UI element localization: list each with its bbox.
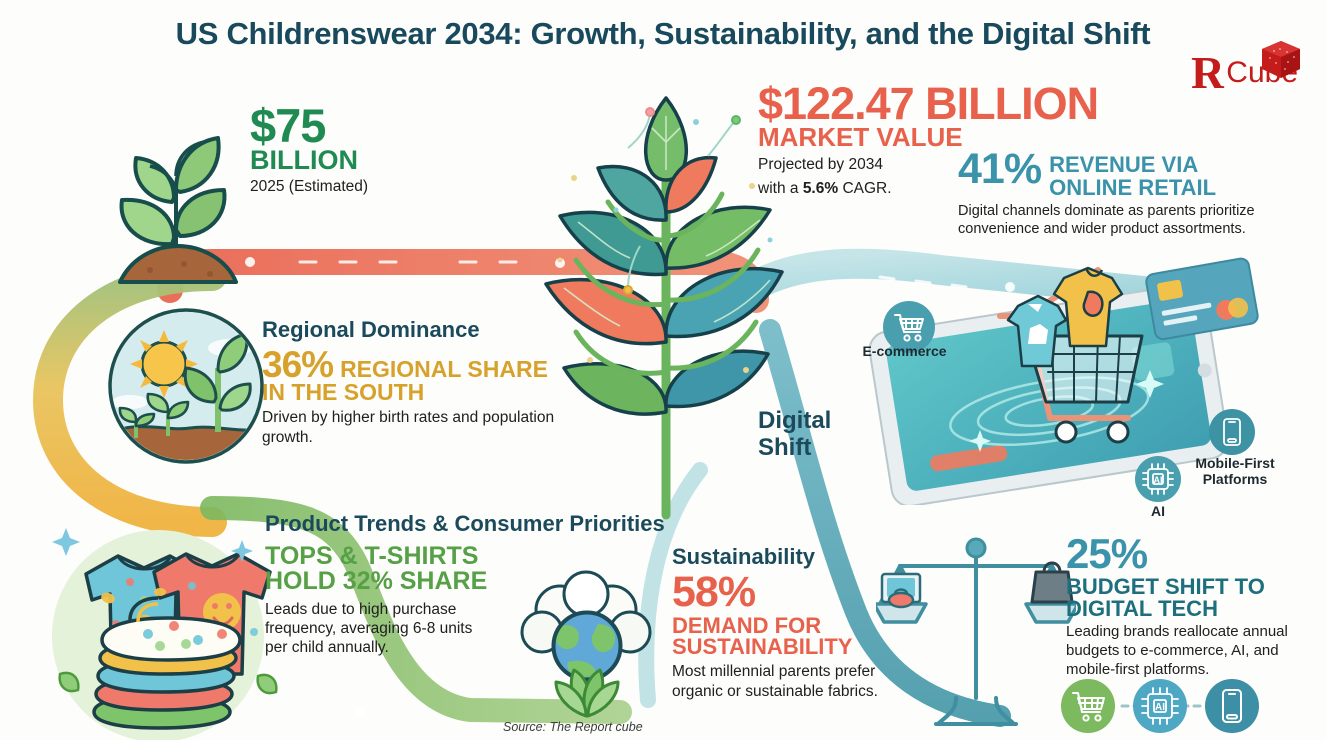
- budget-shift-note: Leading brands reallocate annual budgets…: [1066, 623, 1316, 679]
- stat-sustainability: Sustainability 58% DEMAND FOR SUSTAINABI…: [672, 545, 902, 701]
- stat-online-label-line1: REVENUE VIA: [1049, 153, 1216, 176]
- regional-label-line1: REGIONAL SHARE: [340, 357, 548, 381]
- sustainability-label-line2: SUSTAINABILITY: [672, 635, 902, 658]
- stat-budget-shift: 25% BUDGET SHIFT TO DIGITAL TECH Leading…: [1066, 533, 1316, 679]
- product-trends-note: Leads due to high purchase frequency, av…: [265, 600, 480, 658]
- digital-shift-heading: Digital Shift: [758, 408, 831, 462]
- cart-icon-badge: [1061, 679, 1115, 733]
- digital-tech-icon-row: AI: [1060, 678, 1260, 736]
- stat-online-retail: 41% REVENUE VIA ONLINE RETAIL Digital ch…: [958, 148, 1288, 238]
- product-trends-kicker: Product Trends & Consumer Priorities: [265, 512, 695, 537]
- sustainable-cotton-globe-illustration: [512, 570, 662, 720]
- svg-text:AI: AI: [1154, 475, 1163, 485]
- ai-chip-icon-badge: AI: [1133, 679, 1187, 733]
- mobile-first-label: Mobile-First Platforms: [1180, 455, 1290, 487]
- sustainability-kicker: Sustainability: [672, 545, 902, 570]
- regional-label-line2: IN THE SOUTH: [262, 380, 592, 404]
- cube-icon: [1258, 38, 1304, 84]
- cpu-chip-icon: AI: [1134, 455, 1182, 503]
- logo[interactable]: Я Cube: [1191, 52, 1298, 93]
- mobile-first-line1: Mobile-First: [1180, 455, 1290, 471]
- regional-value: 36%: [262, 347, 333, 383]
- ai-label: AI: [1128, 503, 1188, 519]
- regional-note: Driven by higher birth rates and populat…: [262, 408, 592, 447]
- cagr-value: 5.6%: [803, 180, 838, 197]
- stat-regional-dominance: Regional Dominance 36% REGIONAL SHARE IN…: [262, 318, 592, 447]
- stat-2025-unit: BILLION: [250, 146, 368, 174]
- phone-icon-badge: [1205, 679, 1259, 733]
- svg-text:AI: AI: [1155, 702, 1165, 713]
- page-title: US Childrenswear 2034: Growth, Sustainab…: [0, 16, 1326, 52]
- budget-shift-value: 25%: [1066, 533, 1316, 574]
- mobile-first-line2: Platforms: [1180, 471, 1290, 487]
- logo-mark-r: Я: [1191, 52, 1224, 93]
- mobile-icon-badge[interactable]: [1208, 408, 1256, 456]
- digital-shift-line1: Digital: [758, 408, 831, 435]
- ai-icon-badge[interactable]: AI: [1134, 455, 1182, 503]
- regional-kicker: Regional Dominance: [262, 318, 592, 343]
- stat-online-label-line2: ONLINE RETAIL: [1049, 176, 1216, 199]
- seedling-illustration: [88, 90, 268, 290]
- stat-online-note: Digital channels dominate as parents pri…: [958, 202, 1288, 238]
- ecommerce-label: E-commerce: [852, 343, 957, 359]
- childrenswear-tshirts-illustration: [26, 516, 291, 740]
- cagr-prefix: with a: [758, 180, 803, 197]
- mobile-phone-icon: [1208, 408, 1256, 456]
- regional-label: REGIONAL SHARE: [340, 357, 548, 381]
- stat-2034-value: $122.47 BILLION: [758, 82, 1098, 126]
- stat-online-label: REVENUE VIA ONLINE RETAIL: [1049, 148, 1216, 199]
- sustainability-value: 58%: [672, 571, 902, 613]
- sun-plants-circle-illustration: [106, 306, 266, 466]
- stat-2025-note: 2025 (Estimated): [250, 177, 368, 196]
- balance-scale-illustration: [876, 518, 1076, 733]
- stat-market-2025: $75 BILLION 2025 (Estimated): [250, 103, 368, 197]
- sustainability-note: Most millennial parents prefer organic o…: [672, 662, 902, 701]
- source-credit: Source: The Report cube: [503, 720, 643, 734]
- stat-2025-value: $75: [250, 103, 368, 149]
- infographic-canvas: US Childrenswear 2034: Growth, Sustainab…: [0, 0, 1326, 740]
- cagr-suffix: CAGR.: [838, 180, 891, 197]
- budget-shift-label-line2: DIGITAL TECH: [1066, 597, 1316, 621]
- product-trends-label-line1: TOPS & T-SHIRTS: [265, 543, 595, 570]
- stat-online-value: 41%: [958, 148, 1041, 190]
- digital-shift-line2: Shift: [758, 435, 831, 462]
